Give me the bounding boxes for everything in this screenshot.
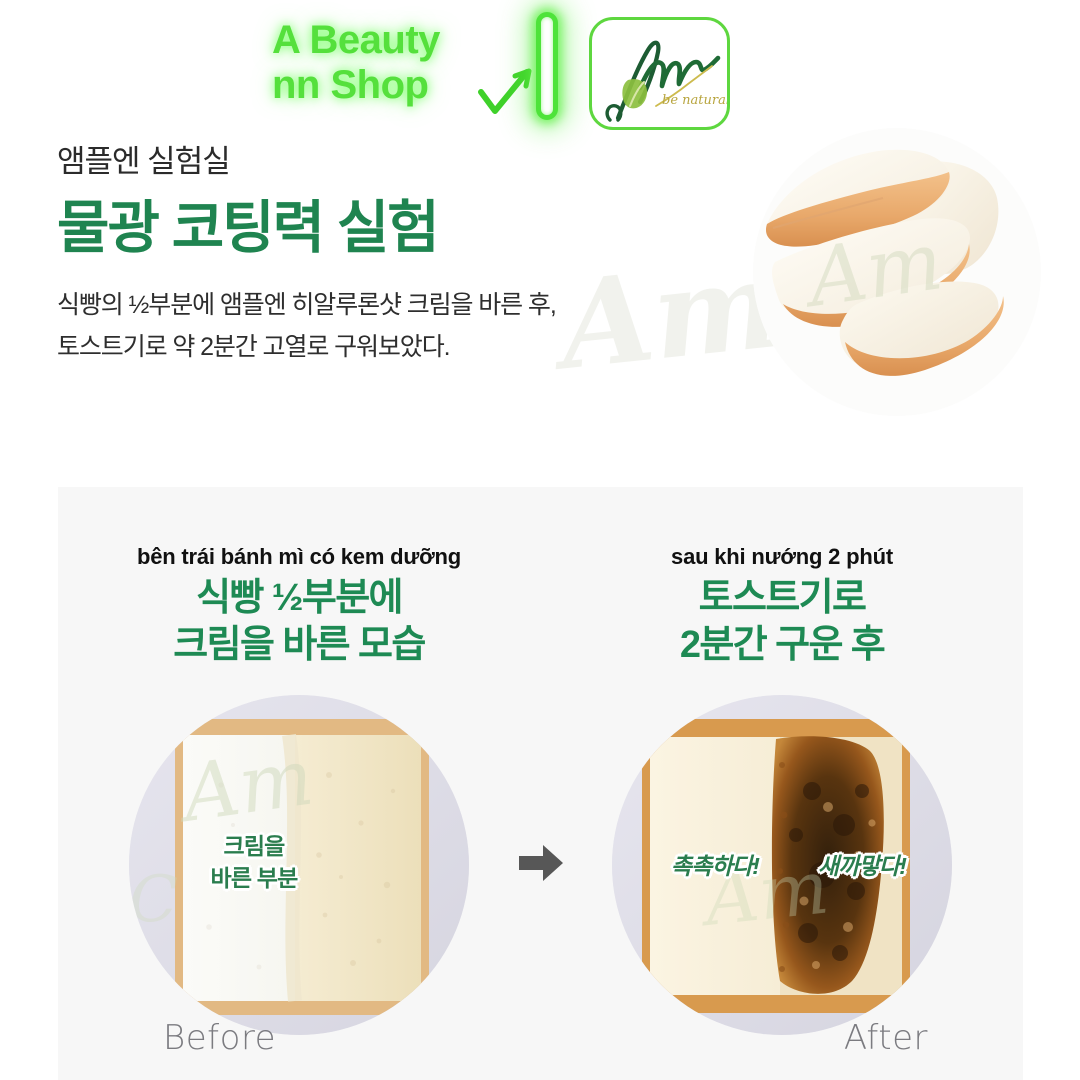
after-title: 토스트기로 2분간 구운 후	[541, 575, 1023, 669]
comparison-panel: bên trái bánh mì có kem dưỡng 식빵 ½부분에 크림…	[58, 487, 1023, 1080]
svg-text:Am: Am	[171, 733, 318, 841]
neon-bar-divider	[536, 12, 558, 120]
intro-description: 식빵의 ½부분에 앰플엔 히알루론샷 크림을 바른 후, 토스트기로 약 2분간…	[57, 284, 697, 368]
brand-wordmark: A Beauty nn Shop	[272, 18, 522, 118]
brand-wordmark-line1: A Beauty	[272, 18, 522, 63]
check-arrow-icon	[477, 66, 537, 120]
after-subtitle: sau khi nướng 2 phút	[541, 544, 1023, 570]
after-title-line1: 토스트기로	[541, 575, 1023, 622]
svg-text:Am: Am	[796, 214, 948, 326]
svg-text:Am: Am	[695, 844, 833, 943]
comparison-column-before: bên trái bánh mì có kem dưỡng 식빵 ½부분에 크림…	[58, 487, 540, 1080]
before-title-line1: 식빵 ½부분에	[58, 575, 540, 622]
before-title-line2: 크림을 바른 모습	[58, 622, 540, 669]
badge-tagline-text: be natural	[662, 93, 730, 108]
comparison-column-after: sau khi nướng 2 phút 토스트기로 2분간 구운 후	[541, 487, 1023, 1080]
after-title-line2: 2분간 구운 후	[541, 622, 1023, 669]
brand-logo-badge: be natural	[589, 17, 730, 130]
brand-header: A Beauty nn Shop be natural	[0, 0, 1080, 130]
svg-text:C: C	[129, 863, 178, 937]
intro-kicker: 앰플엔 실험실	[57, 140, 697, 184]
intro-description-line2: 토스트기로 약 2분간 고열로 구워보았다.	[57, 326, 697, 368]
intro-title: 물광 코팅력 실험	[57, 194, 697, 262]
before-title: 식빵 ½부분에 크림을 바른 모습	[58, 575, 540, 669]
sliced-white-bread-photo: Am	[753, 128, 1041, 416]
before-subtitle: bên trái bánh mì có kem dưỡng	[58, 544, 540, 570]
intro-block: 앰플엔 실험실 물광 코팅력 실험 식빵의 ½부분에 앰플엔 히알루론샷 크림을…	[57, 140, 697, 368]
bread-half-cream-applied-photo: Am C 크림을 바른 부분	[129, 695, 469, 1035]
toasted-bread-burnt-half-photo: Am 촉촉하다! 새까맣다!	[612, 695, 952, 1035]
intro-description-line1: 식빵의 ½부분에 앰플엔 히알루론샷 크림을 바른 후,	[57, 284, 697, 326]
after-stage-label: After	[844, 1018, 928, 1058]
product-detail-page: A Beauty nn Shop be natural	[0, 0, 1080, 1080]
